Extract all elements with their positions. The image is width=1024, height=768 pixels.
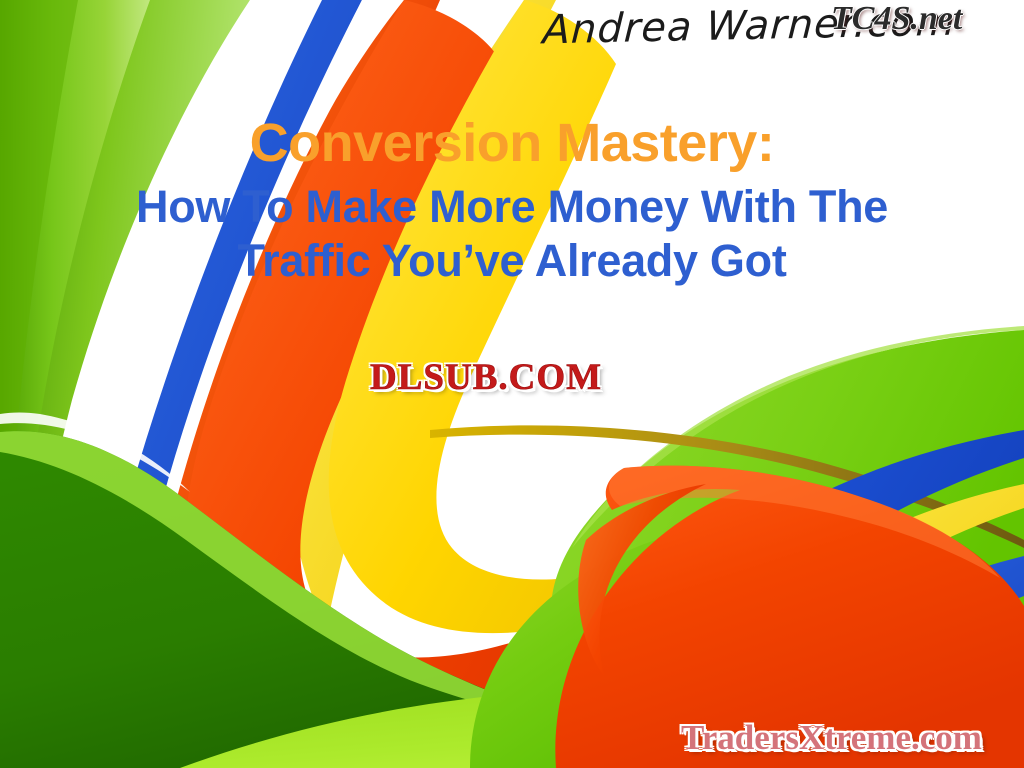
slide-canvas: Conversion Mastery: How To Make More Mon… (0, 0, 1024, 768)
tc4s-watermark: TC4S.net (831, 2, 962, 36)
tradersxtreme-watermark: TradersXtreme.com (681, 719, 982, 757)
dlsub-watermark: DLSUB.COM (370, 358, 602, 398)
